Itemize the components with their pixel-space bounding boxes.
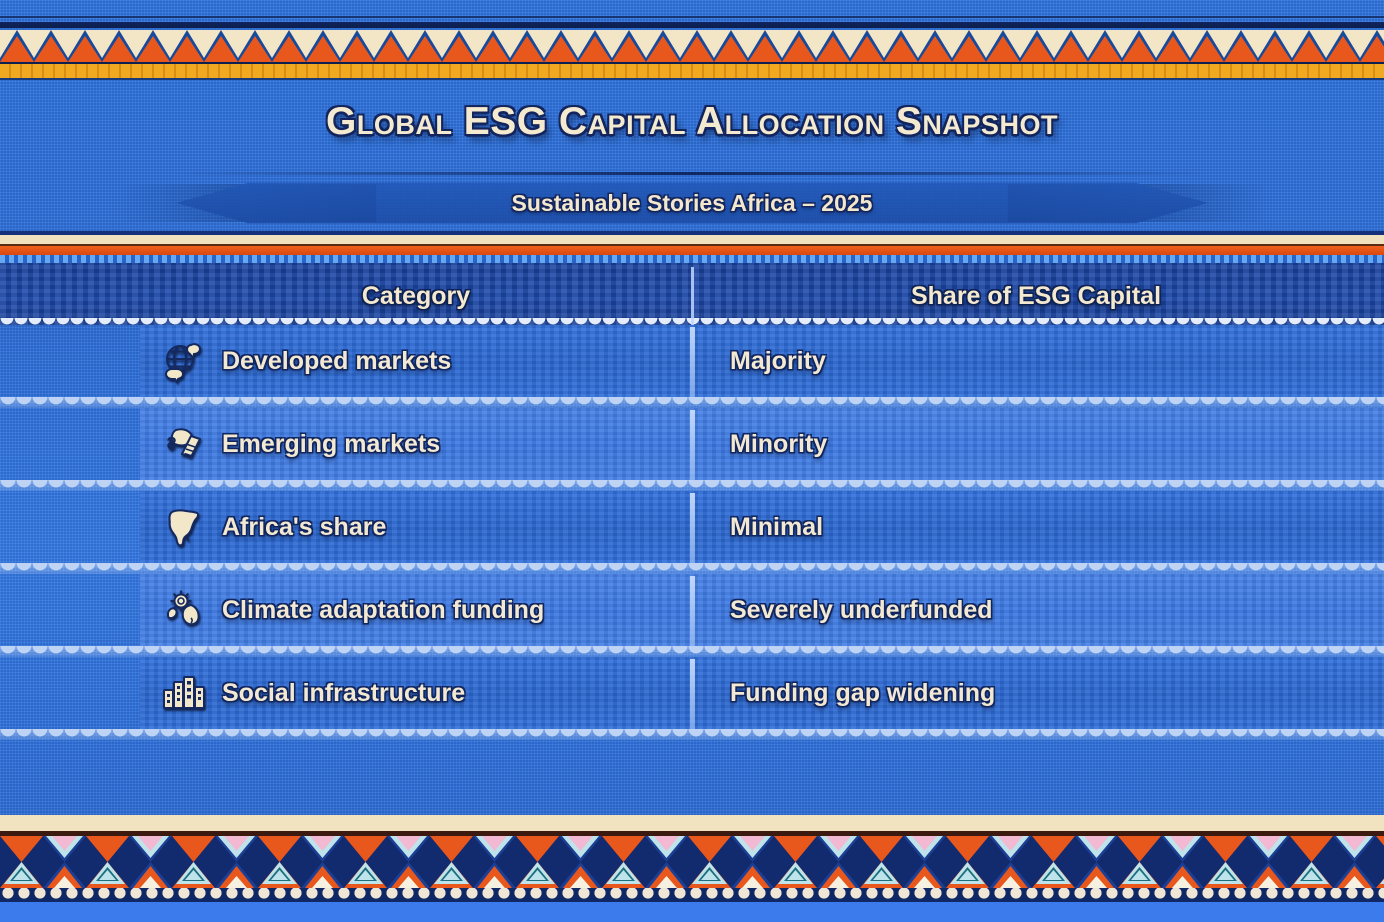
row-bottom-scallop [0, 480, 1384, 491]
cell-share: Funding gap widening [730, 657, 995, 729]
cell-category: Developed markets [160, 325, 451, 397]
title-underline [170, 172, 1214, 175]
row-column-divider [690, 410, 695, 480]
top-gold-dashes [0, 62, 1384, 80]
share-label: Funding gap widening [730, 679, 995, 708]
table-row[interactable]: Emerging markets Minority [0, 408, 1384, 491]
title-block: Global ESG Capital Allocation Snapshot S… [0, 100, 1384, 144]
table-header-row: Category Share of ESG Capital [0, 263, 1384, 325]
globe-network-icon [160, 339, 208, 383]
cell-category: Social infrastructure [160, 657, 465, 729]
divider-orange [0, 246, 1384, 255]
cell-category: Emerging markets [160, 408, 440, 480]
category-label: Africa's share [222, 513, 386, 542]
divider-cream [0, 235, 1384, 244]
top-decorative-border [0, 0, 1384, 88]
top-thin-line [0, 16, 1384, 18]
share-label: Minority [730, 430, 827, 459]
row-column-divider [690, 327, 695, 397]
column-header-category: Category [140, 263, 692, 325]
row-column-divider [690, 659, 695, 729]
slide-canvas: Global ESG Capital Allocation Snapshot S… [0, 0, 1384, 922]
cell-share: Minimal [730, 491, 823, 563]
page-title: Global ESG Capital Allocation Snapshot [0, 100, 1384, 144]
border-triangle-cream [1377, 30, 1384, 58]
row-column-divider [690, 493, 695, 563]
money-bank-icon [160, 422, 208, 466]
cell-share: Severely underfunded [730, 574, 993, 646]
table-row[interactable]: Climate adaptation funding Severely unde… [0, 574, 1384, 657]
cell-category: Africa's share [160, 491, 386, 563]
bottom-cream-strip [0, 815, 1384, 831]
subtitle-banner: Sustainable Stories Africa – 2025 [176, 180, 1208, 226]
mid-divider-stripe [0, 231, 1384, 267]
row-column-divider [690, 576, 695, 646]
social-buildings-icon [160, 671, 208, 715]
esg-allocation-table: Category Share of ESG Capital Developed … [0, 263, 1384, 740]
row-bottom-scallop [0, 563, 1384, 574]
row-bottom-scallop [0, 397, 1384, 408]
table-body: Developed markets Majority Emerging mark… [0, 325, 1384, 740]
category-label: Developed markets [222, 347, 451, 376]
top-navy-band [0, 22, 1384, 28]
row-bottom-scallop [0, 729, 1384, 740]
climate-sun-leaf-icon [160, 588, 208, 632]
category-label: Climate adaptation funding [222, 596, 544, 625]
cell-category: Climate adaptation funding [160, 574, 544, 646]
bottom-blue-strip [0, 902, 1384, 922]
cell-share: Minority [730, 408, 827, 480]
share-label: Severely underfunded [730, 596, 993, 625]
share-label: Majority [730, 347, 826, 376]
ndebele-pattern-band [0, 836, 1384, 888]
category-label: Social infrastructure [222, 679, 465, 708]
column-header-share: Share of ESG Capital [692, 263, 1380, 325]
row-bottom-scallop [0, 646, 1384, 657]
share-label: Minimal [730, 513, 823, 542]
page-subtitle: Sustainable Stories Africa – 2025 [176, 180, 1208, 226]
header-column-divider [691, 267, 694, 325]
africa-map-icon [160, 505, 208, 549]
bottom-decorative-border [0, 815, 1384, 922]
top-triangle-pattern [0, 30, 1384, 62]
category-label: Emerging markets [222, 430, 440, 459]
table-row[interactable]: Developed markets Majority [0, 325, 1384, 408]
bottom-scallop-dots [0, 888, 1384, 902]
table-row[interactable]: Africa's share Minimal [0, 491, 1384, 574]
table-row[interactable]: Social infrastructure Funding gap wideni… [0, 657, 1384, 740]
cell-share: Majority [730, 325, 826, 397]
